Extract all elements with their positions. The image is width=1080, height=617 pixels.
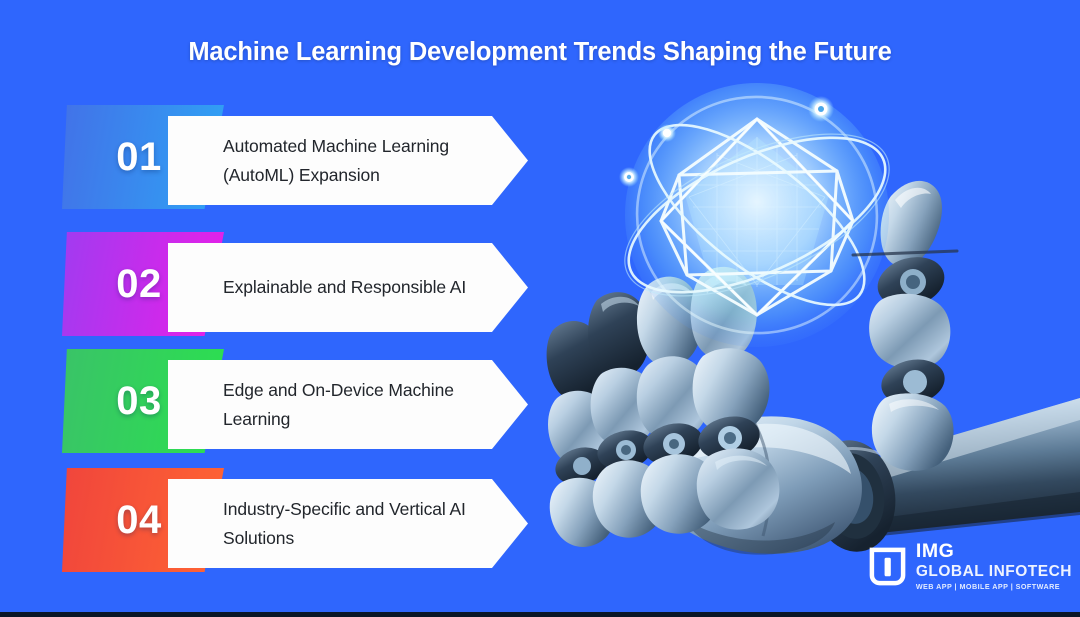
logo-subtitle: GLOBAL INFOTECH [916,564,1072,580]
item-banner: Automated Machine Learning (AutoML) Expa… [168,116,528,205]
list-item[interactable]: 03 Edge and On-Device Machine Learning [0,345,560,463]
company-logo[interactable]: IMG GLOBAL INFOTECH WEB APP | MOBILE APP… [868,542,1072,590]
item-label: Edge and On-Device Machine Learning [168,376,528,433]
item-number: 04 [116,500,162,540]
item-number: 01 [116,137,162,177]
list-item[interactable]: 02 Explainable and Responsible AI [0,228,560,346]
item-banner: Industry-Specific and Vertical AI Soluti… [168,479,528,568]
item-banner: Explainable and Responsible AI [168,243,528,332]
robot-hand-artwork [535,0,1080,617]
item-banner: Edge and On-Device Machine Learning [168,360,528,449]
list-item[interactable]: 01 Automated Machine Learning (AutoML) E… [0,101,560,219]
item-number: 02 [116,264,162,304]
item-label: Explainable and Responsible AI [168,273,526,301]
infographic-canvas: Machine Learning Development Trends Shap… [0,0,1080,617]
item-label: Industry-Specific and Vertical AI Soluti… [168,495,528,552]
u-monogram-icon [868,547,907,586]
list-item[interactable]: 04 Industry-Specific and Vertical AI Sol… [0,464,560,582]
logo-tagline: WEB APP | MOBILE APP | SOFTWARE [916,583,1072,590]
logo-brand: IMG [916,542,1072,562]
logo-text-block: IMG GLOBAL INFOTECH WEB APP | MOBILE APP… [916,542,1072,590]
item-number: 03 [116,381,162,421]
item-label: Automated Machine Learning (AutoML) Expa… [168,132,528,189]
bottom-border [0,612,1080,617]
trends-list: 01 Automated Machine Learning (AutoML) E… [0,0,560,617]
